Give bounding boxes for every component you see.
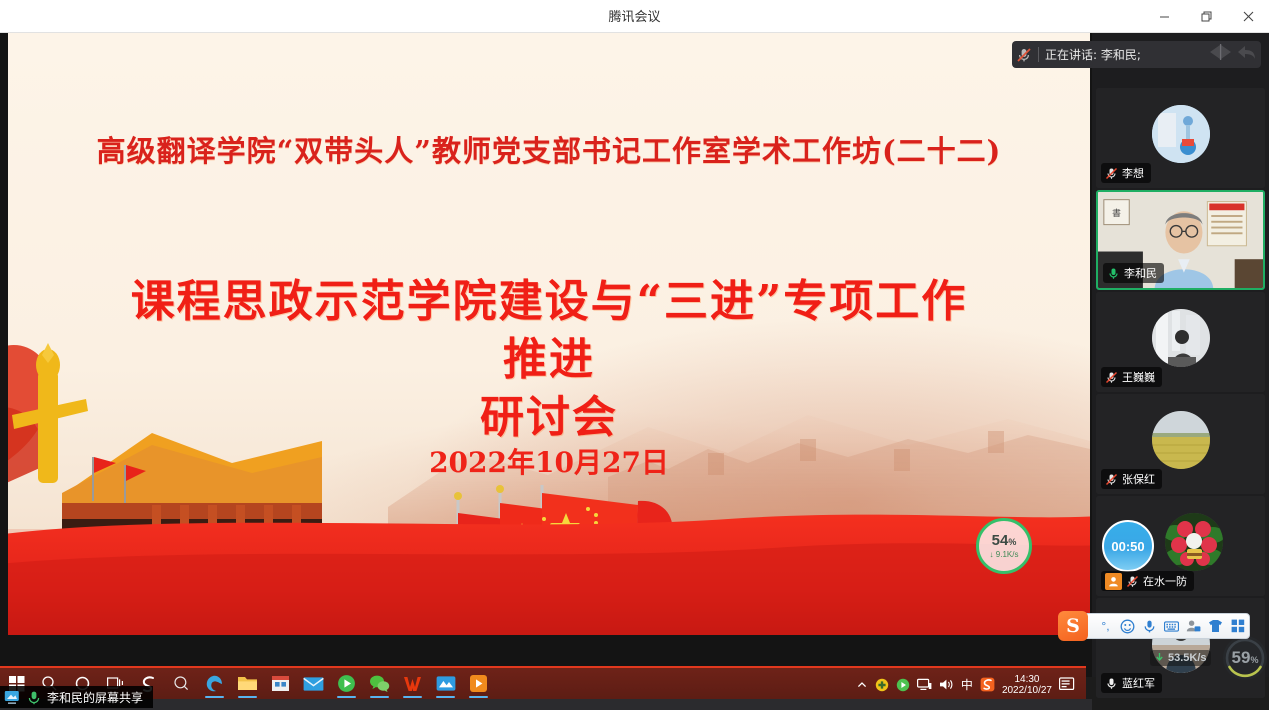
avatar-image	[1152, 411, 1210, 469]
volume-icon[interactable]	[939, 678, 954, 691]
screen-share-status[interactable]: 李和民的屏幕共享	[0, 686, 153, 708]
window-controls	[1143, 0, 1269, 33]
cpu-usage-ring: 59%	[1223, 636, 1267, 680]
meeting-icon[interactable]	[462, 668, 495, 699]
network-bubble-percent: 54%	[992, 533, 1017, 548]
speed-value: 53.5K/s	[1168, 652, 1207, 664]
punctuation-mode-icon[interactable]: °,	[1098, 618, 1113, 635]
windows-taskbar[interactable]: 中 14:30 2022/10/27	[0, 666, 1086, 699]
mic-muted-icon	[1105, 371, 1118, 384]
participant-name: 李和民	[1124, 265, 1157, 281]
speaking-timer-badge: 00:50	[1102, 520, 1154, 572]
wechat-icon[interactable]	[363, 668, 396, 699]
participant-name-bar: 李想	[1101, 163, 1151, 183]
sogou-ime-logo[interactable]: S	[1058, 611, 1088, 641]
speaking-text: 正在讲话: 李和民;	[1045, 46, 1141, 63]
collapse-arrows-icon[interactable]	[1208, 43, 1235, 66]
mic-muted-icon	[1126, 575, 1139, 588]
avatar	[1165, 513, 1223, 571]
meeting-stage: 中华人民共和国万岁	[0, 33, 1269, 677]
participant-tile[interactable]: 王巍巍	[1096, 292, 1265, 392]
close-button[interactable]	[1227, 0, 1269, 33]
wps-icon[interactable]	[396, 668, 429, 699]
participant-name: 王巍巍	[1122, 369, 1155, 385]
edge-browser-icon[interactable]	[198, 668, 231, 699]
sogou-ime-toolbar[interactable]: 中 °,	[1066, 613, 1250, 639]
mic-muted-icon	[1105, 167, 1118, 180]
mic-muted-icon	[1016, 47, 1032, 63]
divider	[1038, 47, 1039, 62]
speaking-status-bar: 正在讲话: 李和民;	[1012, 41, 1261, 68]
editor-icon[interactable]	[429, 668, 462, 699]
participant-tile[interactable]: 张保红	[1096, 394, 1265, 494]
avatar	[1152, 105, 1210, 163]
participant-tile[interactable]: 李想	[1096, 88, 1265, 188]
participant-tile-active[interactable]: 書	[1096, 190, 1265, 290]
avatar	[1152, 309, 1210, 367]
slide-main-line-2: 研讨会	[128, 389, 970, 447]
mic-icon	[27, 690, 41, 705]
slide-workshop-title: 高级翻译学院“双带头人”教师党支部书记工作室学术工作坊(二十二)	[8, 128, 1090, 170]
player-tray-icon[interactable]	[896, 678, 910, 692]
participant-tile[interactable]: 00:50 在水一防	[1096, 496, 1265, 596]
clock-date: 2022/10/27	[1002, 685, 1052, 696]
slide-date: 2022年10月27日	[8, 441, 1090, 481]
screen-share-icon	[4, 690, 21, 705]
network-speed-bubble[interactable]: 54% ↓ 9.1K/s	[976, 518, 1032, 574]
mail-icon[interactable]	[297, 668, 330, 699]
security-icon[interactable]	[875, 678, 889, 692]
soft-keyboard-icon[interactable]	[1164, 618, 1179, 635]
red-ribbon-illustration	[8, 495, 1090, 635]
screen-share-text: 李和民的屏幕共享	[47, 689, 143, 706]
speed-readout: 53.5K/s	[1150, 650, 1211, 666]
account-icon[interactable]	[1186, 618, 1201, 635]
participant-name: 蓝红军	[1122, 675, 1155, 691]
action-center-icon[interactable]	[1059, 677, 1076, 692]
network-speed-widget[interactable]: 53.5K/s 59%	[1150, 638, 1269, 677]
slide-main-title: 课程思政示范学院建设与“三进”专项工作推进 研讨会	[128, 273, 970, 447]
participant-name: 在水一防	[1143, 573, 1187, 589]
window-title-bar: 腾讯会议	[0, 0, 1269, 33]
participant-name: 李想	[1122, 165, 1144, 181]
participant-name-bar: 李和民	[1103, 263, 1164, 283]
minimize-button[interactable]	[1143, 0, 1185, 33]
rail-controls	[1208, 43, 1257, 66]
ime-mode-icon[interactable]: 中	[961, 676, 973, 693]
skin-icon[interactable]	[1208, 618, 1223, 635]
emoji-icon[interactable]	[1120, 618, 1135, 635]
magnifier-icon[interactable]	[165, 668, 198, 699]
usage-ring-track	[1223, 636, 1267, 680]
show-hidden-icons[interactable]	[856, 679, 868, 691]
avatar-image	[1152, 309, 1210, 367]
return-arrow-icon[interactable]	[1237, 43, 1257, 66]
mic-icon	[1105, 677, 1118, 690]
mic-muted-icon	[1105, 473, 1118, 486]
voice-input-icon[interactable]	[1142, 618, 1157, 635]
participant-name-bar: 在水一防	[1101, 571, 1194, 591]
window-title: 腾讯会议	[0, 0, 1269, 33]
player-icon[interactable]	[330, 668, 363, 699]
shared-screen-content: 中华人民共和国万岁	[8, 33, 1090, 635]
avatar	[1152, 411, 1210, 469]
network-bubble-speed: ↓ 9.1K/s	[990, 550, 1019, 559]
avatar-image	[1165, 513, 1223, 571]
file-explorer-icon[interactable]	[231, 668, 264, 699]
participant-name-bar: 张保红	[1101, 469, 1162, 489]
network-icon[interactable]	[917, 678, 932, 691]
mic-active-icon	[1107, 267, 1120, 280]
svg-text:書: 書	[1112, 207, 1121, 219]
microsoft-store-icon[interactable]	[264, 668, 297, 699]
slide-main-line-1: 课程思政示范学院建设与“三进”专项工作推进	[128, 273, 970, 389]
participant-name: 张保红	[1122, 471, 1155, 487]
clock-time: 14:30	[1002, 674, 1052, 685]
download-arrow-icon	[1154, 652, 1165, 663]
system-tray[interactable]: 中 14:30 2022/10/27	[856, 668, 1082, 701]
toolbox-icon[interactable]	[1230, 618, 1245, 635]
host-icon	[1105, 573, 1122, 590]
participant-rail[interactable]: 李想 書	[1092, 33, 1269, 677]
avatar-image	[1152, 105, 1210, 163]
restore-button[interactable]	[1185, 0, 1227, 33]
participant-name-bar: 王巍巍	[1101, 367, 1162, 387]
sogou-tray-icon[interactable]	[980, 677, 995, 692]
